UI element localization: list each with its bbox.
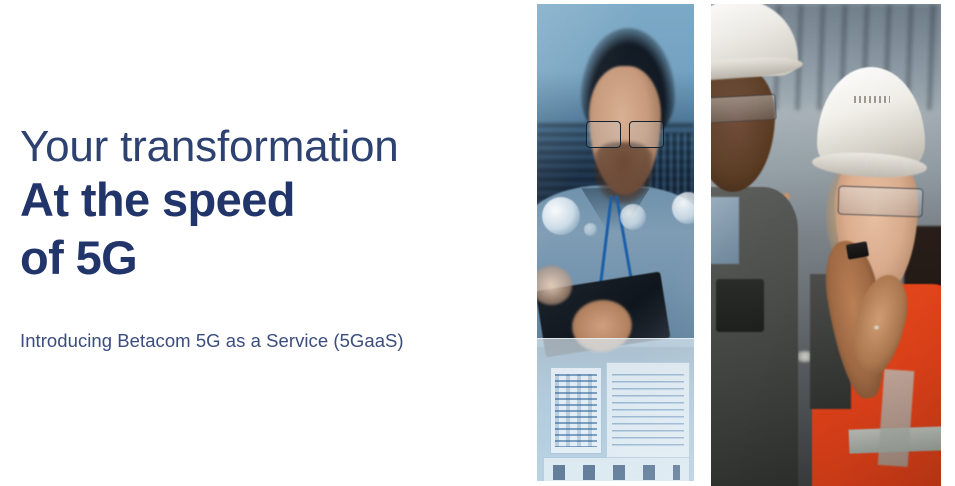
left-photo-panel	[537, 4, 694, 481]
left-photo-glass-sheen	[537, 4, 694, 481]
headline-line-3: of 5G	[20, 229, 520, 286]
right-photo-panel	[711, 4, 941, 486]
headline-line-2: At the speed	[20, 171, 520, 228]
subtitle-text: Introducing Betacom 5G as a Service (5Ga…	[20, 286, 520, 352]
headline-line-1: Your transformation	[20, 122, 520, 171]
right-photo-sheen	[711, 4, 941, 486]
headline-text-block: Your transformation At the speed of 5G I…	[20, 122, 520, 352]
presentation-slide: Your transformation At the speed of 5G I…	[0, 0, 955, 486]
